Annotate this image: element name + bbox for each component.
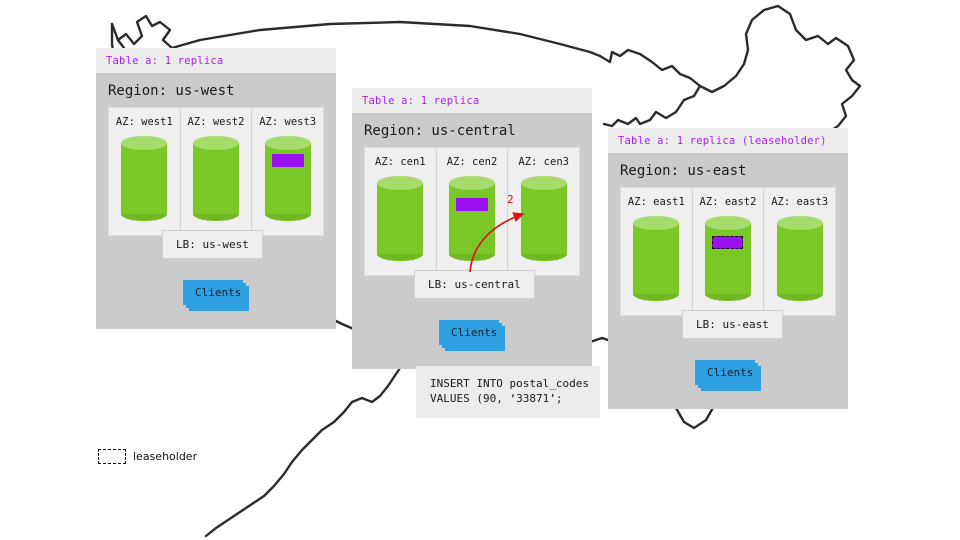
table-replica-label: Table a: 1 replica (leaseholder): [618, 135, 838, 147]
legend: leaseholder: [98, 449, 197, 464]
region-header-us-central: Table a: 1 replica: [352, 88, 592, 113]
cylinder-top: [193, 136, 239, 150]
az-label: AZ: cen3: [508, 156, 579, 168]
node-cylinder[interactable]: [121, 136, 167, 221]
cylinder-body: [705, 223, 751, 294]
cylinder-top: [633, 216, 679, 230]
node-cylinder[interactable]: [521, 176, 567, 261]
region-header-us-west: Table a: 1 replica: [96, 48, 336, 73]
cylinder-body: [633, 223, 679, 294]
replica-block-leaseholder[interactable]: [712, 236, 743, 249]
diagram-stage: Table a: 1 replica Region: us-west AZ: w…: [0, 0, 960, 540]
az-label: AZ: west2: [181, 116, 252, 128]
clients-button-label[interactable]: Clients: [439, 320, 499, 345]
load-balancer-us-central[interactable]: LB: us-central: [414, 270, 535, 299]
az-label: AZ: east1: [621, 196, 692, 208]
leaseholder-dashed-rect-icon: [98, 449, 126, 464]
node-cylinder[interactable]: [633, 216, 679, 301]
az-cell-cen2[interactable]: AZ: cen2: [436, 148, 508, 275]
clients-us-central[interactable]: Clients: [439, 320, 499, 345]
cylinder-top: [521, 176, 567, 190]
cylinder-body: [121, 143, 167, 214]
cylinder-body: [777, 223, 823, 294]
az-label: AZ: cen2: [437, 156, 508, 168]
cylinder-top: [449, 176, 495, 190]
table-replica-label: Table a: 1 replica: [362, 95, 582, 107]
az-cell-cen1[interactable]: AZ: cen1: [365, 148, 436, 275]
replica-block[interactable]: [272, 154, 304, 167]
az-cell-west1[interactable]: AZ: west1: [109, 108, 180, 235]
region-card-us-east[interactable]: Table a: 1 replica (leaseholder) Region:…: [608, 128, 848, 409]
clients-us-east[interactable]: Clients: [695, 360, 755, 385]
az-strip-us-west: AZ: west1 AZ: west2 AZ: west3: [108, 107, 324, 236]
region-header-us-east: Table a: 1 replica (leaseholder): [608, 128, 848, 153]
az-cell-cen3[interactable]: AZ: cen3: [507, 148, 579, 275]
replica-block[interactable]: [456, 198, 488, 211]
load-balancer-us-east[interactable]: LB: us-east: [682, 310, 783, 339]
legend-label: leaseholder: [133, 450, 197, 463]
az-cell-west2[interactable]: AZ: west2: [180, 108, 252, 235]
clients-us-west[interactable]: Clients: [183, 280, 243, 305]
region-title: Region: us-central: [352, 113, 592, 147]
arrow-step-label: 2: [507, 193, 514, 206]
cylinder-top: [705, 216, 751, 230]
region-card-us-west[interactable]: Table a: 1 replica Region: us-west AZ: w…: [96, 48, 336, 329]
az-strip-us-east: AZ: east1 AZ: east2 AZ: east3: [620, 187, 836, 316]
region-title: Region: us-east: [608, 153, 848, 187]
region-title: Region: us-west: [96, 73, 336, 107]
cylinder-top: [377, 176, 423, 190]
sql-statement-note: INSERT INTO postal_codes VALUES (90, ‘33…: [416, 366, 600, 418]
table-replica-label: Table a: 1 replica: [106, 55, 326, 67]
az-strip-us-central: AZ: cen1 AZ: cen2 AZ: cen3: [364, 147, 580, 276]
cylinder-body: [377, 183, 423, 254]
node-cylinder[interactable]: [193, 136, 239, 221]
az-label: AZ: west3: [252, 116, 323, 128]
node-cylinder[interactable]: [705, 216, 751, 301]
node-cylinder[interactable]: [777, 216, 823, 301]
node-cylinder[interactable]: [265, 136, 311, 221]
cylinder-top: [265, 136, 311, 150]
cylinder-body: [193, 143, 239, 214]
clients-button-label[interactable]: Clients: [183, 280, 243, 305]
cylinder-body: [449, 183, 495, 254]
az-label: AZ: west1: [109, 116, 180, 128]
load-balancer-us-west[interactable]: LB: us-west: [162, 230, 263, 259]
node-cylinder[interactable]: [377, 176, 423, 261]
az-label: AZ: east3: [764, 196, 835, 208]
az-label: AZ: east2: [693, 196, 764, 208]
az-cell-west3[interactable]: AZ: west3: [251, 108, 323, 235]
az-label: AZ: cen1: [365, 156, 436, 168]
cylinder-body: [521, 183, 567, 254]
node-cylinder[interactable]: [449, 176, 495, 261]
region-card-us-central[interactable]: Table a: 1 replica Region: us-central AZ…: [352, 88, 592, 369]
az-cell-east1[interactable]: AZ: east1: [621, 188, 692, 315]
az-cell-east3[interactable]: AZ: east3: [763, 188, 835, 315]
clients-button-label[interactable]: Clients: [695, 360, 755, 385]
cylinder-top: [777, 216, 823, 230]
cylinder-top: [121, 136, 167, 150]
az-cell-east2[interactable]: AZ: east2: [692, 188, 764, 315]
